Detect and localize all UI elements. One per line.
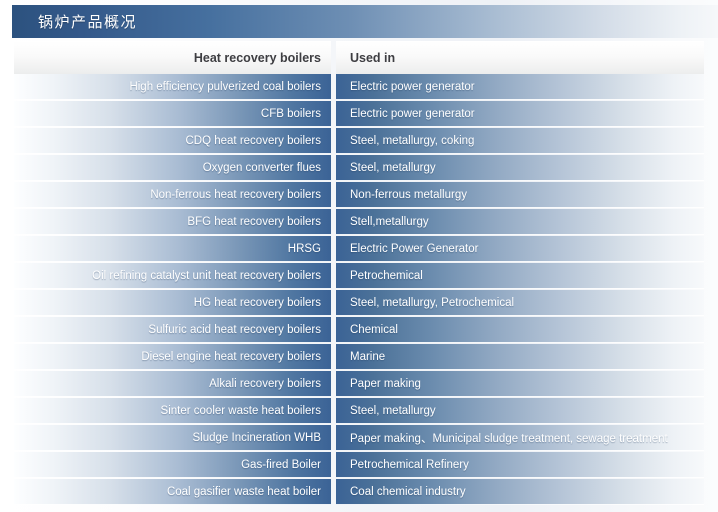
table-row: HRSG Electric Power Generator: [0, 236, 718, 263]
product-overview-table: Heat recovery boilers Used in High effic…: [0, 41, 718, 506]
table-row: Sulfuric acid heat recovery boilers Chem…: [0, 317, 718, 344]
page-title: 锅炉产品概况: [38, 11, 137, 32]
table-row: Alkali recovery boilers Paper making: [0, 371, 718, 398]
table-row: High efficiency pulverized coal boilers …: [0, 74, 718, 101]
cell-boiler-text: HRSG: [288, 243, 321, 255]
cell-used-in: Steel, metallurgy, coking: [336, 128, 704, 154]
cell-boiler-text: Sludge Incineration WHB: [193, 432, 321, 444]
cell-boiler: Oil refining catalyst unit heat recovery…: [14, 263, 331, 289]
table-row: Oxygen converter flues Steel, metallurgy: [0, 155, 718, 182]
cell-boiler-text: Gas-fired Boiler: [241, 459, 321, 471]
cell-used-in-text: Petrochemical: [350, 270, 423, 282]
cell-used-in: Steel, metallurgy: [336, 398, 704, 424]
cell-boiler-text: Sinter cooler waste heat boilers: [161, 405, 321, 417]
cell-used-in: Electric Power Generator: [336, 236, 704, 262]
cell-boiler-text: HG heat recovery boilers: [194, 297, 321, 309]
cell-boiler: Oxygen converter flues: [14, 155, 331, 181]
cell-used-in-text: Steel, metallurgy, coking: [350, 135, 474, 147]
table-row: Sludge Incineration WHB Paper making、Mun…: [0, 425, 718, 452]
cell-boiler-text: Diesel engine heat recovery boilers: [141, 351, 321, 363]
cell-used-in: Stell,metallurgy: [336, 209, 704, 235]
cell-used-in-text: Petrochemical Refinery: [350, 459, 469, 471]
cell-boiler: CFB boilers: [14, 101, 331, 127]
cell-used-in-text: Electric power generator: [350, 81, 475, 93]
cell-used-in-text: Steel, metallurgy: [350, 162, 436, 174]
cell-used-in-text: Paper making: [350, 378, 421, 390]
cell-boiler: Alkali recovery boilers: [14, 371, 331, 397]
cell-used-in: Coal chemical industry: [336, 479, 704, 505]
table-row: Gas-fired Boiler Petrochemical Refinery: [0, 452, 718, 479]
cell-boiler-text: Oxygen converter flues: [203, 162, 321, 174]
table-body: High efficiency pulverized coal boilers …: [0, 74, 718, 506]
cell-boiler: Gas-fired Boiler: [14, 452, 331, 478]
table-row: BFG heat recovery boilers Stell,metallur…: [0, 209, 718, 236]
cell-used-in-text: Non-ferrous metallurgy: [350, 189, 467, 201]
column-header-boiler-label: Heat recovery boilers: [194, 51, 321, 65]
cell-used-in-text: Steel, metallurgy: [350, 405, 436, 417]
cell-used-in: Chemical: [336, 317, 704, 343]
cell-used-in-text: Steel, metallurgy, Petrochemical: [350, 297, 514, 309]
cell-used-in: Steel, metallurgy, Petrochemical: [336, 290, 704, 316]
cell-boiler-text: Coal gasifier waste heat boiler: [167, 486, 321, 498]
cell-boiler-text: Non-ferrous heat recovery boilers: [150, 189, 321, 201]
cell-used-in: Non-ferrous metallurgy: [336, 182, 704, 208]
table-row: HG heat recovery boilers Steel, metallur…: [0, 290, 718, 317]
table-header-row: Heat recovery boilers Used in: [0, 41, 718, 74]
cell-used-in-text: Coal chemical industry: [350, 486, 466, 498]
cell-boiler: Sinter cooler waste heat boilers: [14, 398, 331, 424]
table-row: CDQ heat recovery boilers Steel, metallu…: [0, 128, 718, 155]
cell-boiler: CDQ heat recovery boilers: [14, 128, 331, 154]
cell-used-in-text: Stell,metallurgy: [350, 216, 429, 228]
cell-boiler-text: Alkali recovery boilers: [209, 378, 321, 390]
cell-boiler: Sulfuric acid heat recovery boilers: [14, 317, 331, 343]
table-row: CFB boilers Electric power generator: [0, 101, 718, 128]
cell-boiler-text: CFB boilers: [261, 108, 321, 120]
cell-boiler: Non-ferrous heat recovery boilers: [14, 182, 331, 208]
slide-page: 锅炉产品概况 Heat recovery boilers Used in Hig…: [0, 0, 718, 512]
table-row: Sinter cooler waste heat boilers Steel, …: [0, 398, 718, 425]
cell-boiler-text: BFG heat recovery boilers: [187, 216, 321, 228]
table-row: Oil refining catalyst unit heat recovery…: [0, 263, 718, 290]
cell-used-in: Electric power generator: [336, 74, 704, 100]
cell-boiler: Coal gasifier waste heat boiler: [14, 479, 331, 505]
cell-boiler-text: Oil refining catalyst unit heat recovery…: [92, 270, 321, 282]
cell-used-in-text: Paper making、Municipal sludge treatment,…: [350, 430, 668, 446]
cell-used-in-text: Electric Power Generator: [350, 243, 478, 255]
cell-used-in-text: Chemical: [350, 324, 398, 336]
column-header-used-in-label: Used in: [350, 51, 395, 65]
cell-used-in: Petrochemical: [336, 263, 704, 289]
column-header-boiler: Heat recovery boilers: [14, 41, 331, 74]
cell-used-in: Paper making、Municipal sludge treatment,…: [336, 425, 704, 451]
cell-boiler-text: CDQ heat recovery boilers: [186, 135, 322, 147]
cell-boiler: Diesel engine heat recovery boilers: [14, 344, 331, 370]
cell-boiler: BFG heat recovery boilers: [14, 209, 331, 235]
cell-used-in: Petrochemical Refinery: [336, 452, 704, 478]
cell-used-in: Steel, metallurgy: [336, 155, 704, 181]
cell-used-in: Marine: [336, 344, 704, 370]
cell-used-in-text: Marine: [350, 351, 385, 363]
cell-boiler-text: High efficiency pulverized coal boilers: [129, 81, 321, 93]
table-row: Diesel engine heat recovery boilers Mari…: [0, 344, 718, 371]
cell-boiler-text: Sulfuric acid heat recovery boilers: [148, 324, 321, 336]
table-row: Non-ferrous heat recovery boilers Non-fe…: [0, 182, 718, 209]
table-row: Coal gasifier waste heat boiler Coal che…: [0, 479, 718, 506]
cell-boiler: Sludge Incineration WHB: [14, 425, 331, 451]
cell-boiler: HG heat recovery boilers: [14, 290, 331, 316]
cell-boiler: HRSG: [14, 236, 331, 262]
column-header-used-in: Used in: [336, 41, 704, 74]
cell-used-in: Electric power generator: [336, 101, 704, 127]
cell-boiler: High efficiency pulverized coal boilers: [14, 74, 331, 100]
cell-used-in-text: Electric power generator: [350, 108, 475, 120]
title-bar: 锅炉产品概况: [12, 5, 718, 38]
cell-used-in: Paper making: [336, 371, 704, 397]
